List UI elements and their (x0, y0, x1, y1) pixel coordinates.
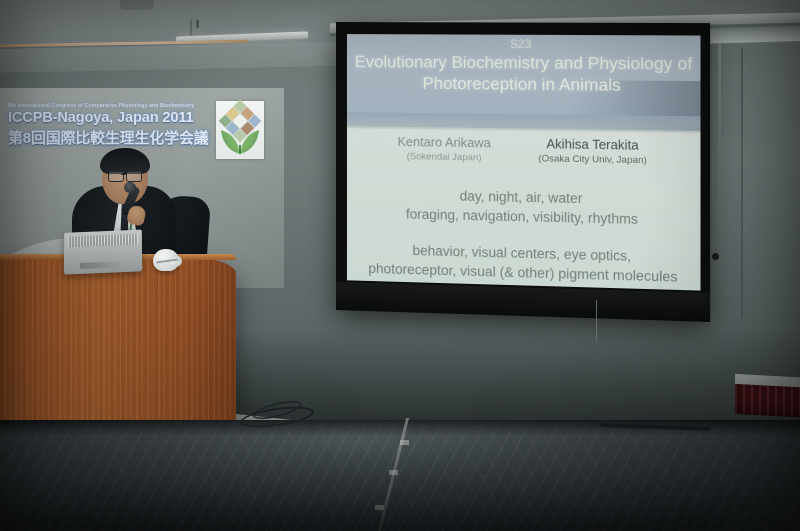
author-affiliation: (Osaka City Univ, Japan) (538, 152, 647, 165)
iccpb-congress-logo-icon (216, 101, 264, 159)
conference-room-photo: 8th International Congress of Comparativ… (0, 0, 800, 531)
light-stem (190, 20, 192, 36)
banner-japanese-line: 第8回国際比較生理生化学会議 (8, 127, 218, 148)
banner-congress-line: 8th International Congress of Comparativ… (8, 103, 218, 109)
slide-headline: S23 Evolutionary Biochemistry and Physio… (347, 38, 701, 97)
slide-author-1: Kentaro Arikawa (Sokendai Japan) (398, 135, 491, 163)
laptop-vents (68, 234, 138, 248)
author-affiliation: (Sokendai Japan) (398, 150, 491, 163)
glasses-icon (108, 171, 124, 182)
projection-screen-surface: S23 Evolutionary Biochemistry and Physio… (347, 34, 701, 291)
slide-header-lower-band (347, 112, 701, 133)
glasses-icon (126, 171, 142, 182)
wall-seam-right (741, 48, 743, 318)
glasses-bridge (121, 174, 127, 175)
laptop-logo (80, 261, 120, 269)
author-name: Kentaro Arikawa (398, 135, 491, 151)
wall-seam-left (718, 44, 721, 319)
projection-screen: S23 Evolutionary Biochemistry and Physio… (336, 22, 710, 322)
slide-authors: Kentaro Arikawa (Sokendai Japan) Akihisa… (347, 134, 701, 166)
slide-author-2: Akihisa Terakita (Osaka City Univ, Japan… (538, 137, 647, 165)
wall-fixture-icon (712, 253, 719, 260)
stage-skirt-right-pleats (735, 384, 800, 418)
ceiling-vent-icon (120, 0, 154, 10)
conference-banner: 8th International Congress of Comparativ… (8, 103, 218, 148)
slide-body-text: day, night, air, water foraging, navigat… (347, 184, 701, 288)
floor-lighting-vignette (0, 420, 800, 531)
microphone-head (124, 182, 136, 193)
light-stem-cap (196, 20, 199, 28)
author-name: Akihisa Terakita (538, 137, 647, 153)
slide-session-code: S23 (347, 38, 701, 52)
laptop (64, 230, 142, 275)
banner-title-line: ICCPB-Nagoya, Japan 2011 (8, 110, 218, 126)
slide-title: Evolutionary Biochemistry and Physiology… (347, 51, 701, 97)
logo-leaf-icon (220, 123, 260, 155)
presentation-slide: S23 Evolutionary Biochemistry and Physio… (347, 34, 701, 291)
